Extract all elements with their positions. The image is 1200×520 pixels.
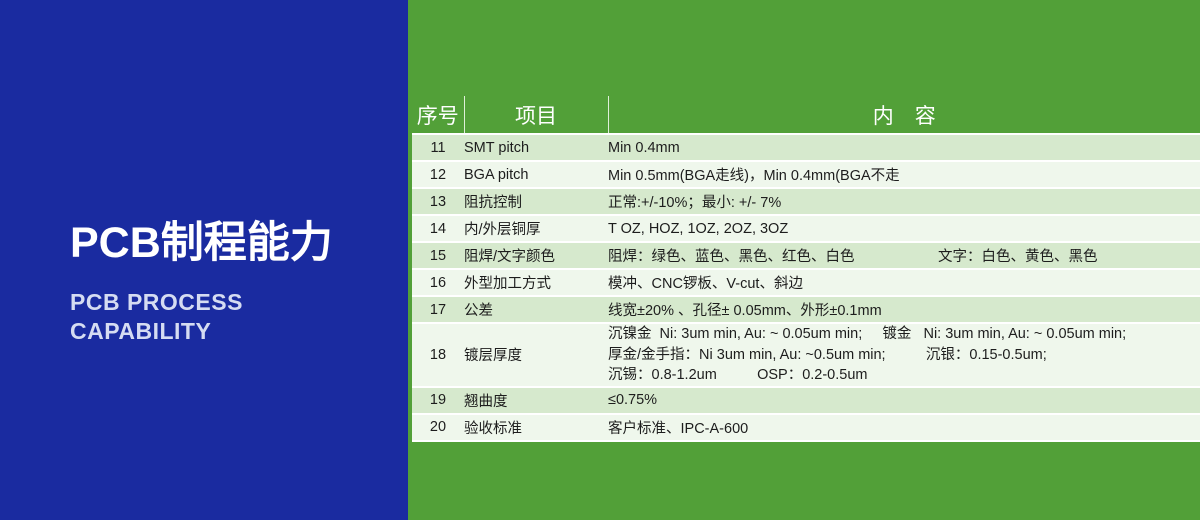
table-row: 14 内/外层铜厚 T OZ, HOZ, 1OZ, 2OZ, 3OZ bbox=[412, 215, 1200, 242]
row-item: 阻焊/文字颜色 bbox=[464, 242, 608, 269]
row-content: Min 0.5mm(BGA走线)，Min 0.4mm(BGA不走 bbox=[608, 161, 1200, 188]
row-content: T OZ, HOZ, 1OZ, 2OZ, 3OZ bbox=[608, 215, 1200, 242]
row-item: BGA pitch bbox=[464, 161, 608, 188]
left-title-panel: PCB制程能力 PCB PROCESS CAPABILITY bbox=[0, 0, 408, 520]
row-content-line-1: 沉镍金 Ni: 3um min, Au: ~ 0.05um min; 镀金 Ni… bbox=[608, 324, 1200, 345]
row-content: 沉镍金 Ni: 3um min, Au: ~ 0.05um min; 镀金 Ni… bbox=[608, 323, 1200, 387]
row-content: 模冲、CNC锣板、V-cut、斜边 bbox=[608, 269, 1200, 296]
row-content: 阻焊：绿色、蓝色、黑色、红色、白色 文字：白色、黄色、黑色 bbox=[608, 242, 1200, 269]
column-header-item: 项目 bbox=[464, 96, 608, 134]
row-item: 翘曲度 bbox=[464, 387, 608, 414]
spec-table-container: 序号 项目 内 容 11 SMT pitch Min 0.4mm 12 BGA … bbox=[412, 96, 1200, 442]
table-row: 18 镀层厚度 沉镍金 Ni: 3um min, Au: ~ 0.05um mi… bbox=[412, 323, 1200, 387]
row-number: 13 bbox=[412, 188, 464, 215]
row-content-line-3: 沉锡：0.8-1.2um OSP：0.2-0.5um bbox=[608, 365, 1200, 386]
column-header-no: 序号 bbox=[412, 96, 464, 134]
row-content: 客户标准、IPC-A-600 bbox=[608, 414, 1200, 441]
table-row: 16 外型加工方式 模冲、CNC锣板、V-cut、斜边 bbox=[412, 269, 1200, 296]
page-subtitle-english: PCB PROCESS CAPABILITY bbox=[70, 288, 243, 347]
row-number: 16 bbox=[412, 269, 464, 296]
table-body: 11 SMT pitch Min 0.4mm 12 BGA pitch Min … bbox=[412, 134, 1200, 441]
row-number: 11 bbox=[412, 134, 464, 161]
green-background-bottom bbox=[408, 443, 1200, 520]
table-header: 序号 项目 内 容 bbox=[412, 96, 1200, 134]
row-number: 12 bbox=[412, 161, 464, 188]
green-background-top bbox=[408, 0, 1200, 96]
row-item: 验收标准 bbox=[464, 414, 608, 441]
page-title-chinese: PCB制程能力 bbox=[70, 222, 333, 265]
row-number: 14 bbox=[412, 215, 464, 242]
row-content-line-2: 厚金/金手指：Ni 3um min, Au: ~0.5um min; 沉银：0.… bbox=[608, 345, 1200, 366]
row-content-solder-mask: 阻焊：绿色、蓝色、黑色、红色、白色 bbox=[608, 245, 938, 266]
row-number: 20 bbox=[412, 414, 464, 441]
row-item: 镀层厚度 bbox=[464, 323, 608, 387]
row-item: 内/外层铜厚 bbox=[464, 215, 608, 242]
row-content: 正常:+/-10%；最小: +/- 7% bbox=[608, 188, 1200, 215]
row-number: 18 bbox=[412, 323, 464, 387]
row-number: 15 bbox=[412, 242, 464, 269]
column-header-content: 内 容 bbox=[608, 96, 1200, 134]
row-item: 外型加工方式 bbox=[464, 269, 608, 296]
table-row: 12 BGA pitch Min 0.5mm(BGA走线)，Min 0.4mm(… bbox=[412, 161, 1200, 188]
table-header-row: 序号 项目 内 容 bbox=[412, 96, 1200, 134]
page-subtitle-line-1: PCB PROCESS bbox=[70, 288, 243, 317]
row-content: ≤0.75% bbox=[608, 387, 1200, 414]
table-row: 20 验收标准 客户标准、IPC-A-600 bbox=[412, 414, 1200, 441]
row-content: 线宽±20% 、孔径± 0.05mm、外形±0.1mm bbox=[608, 296, 1200, 323]
row-number: 19 bbox=[412, 387, 464, 414]
page-subtitle-line-2: CAPABILITY bbox=[70, 317, 243, 346]
row-number: 17 bbox=[412, 296, 464, 323]
table-row: 13 阻抗控制 正常:+/-10%；最小: +/- 7% bbox=[412, 188, 1200, 215]
row-content: Min 0.4mm bbox=[608, 134, 1200, 161]
row-content-silkscreen: 文字：白色、黄色、黑色 bbox=[938, 245, 1098, 266]
row-item: SMT pitch bbox=[464, 134, 608, 161]
row-item: 阻抗控制 bbox=[464, 188, 608, 215]
pcb-process-capability-table: 序号 项目 内 容 11 SMT pitch Min 0.4mm 12 BGA … bbox=[412, 96, 1200, 442]
table-row: 11 SMT pitch Min 0.4mm bbox=[412, 134, 1200, 161]
table-row: 15 阻焊/文字颜色 阻焊：绿色、蓝色、黑色、红色、白色 文字：白色、黄色、黑色 bbox=[412, 242, 1200, 269]
table-row: 19 翘曲度 ≤0.75% bbox=[412, 387, 1200, 414]
table-row: 17 公差 线宽±20% 、孔径± 0.05mm、外形±0.1mm bbox=[412, 296, 1200, 323]
row-item: 公差 bbox=[464, 296, 608, 323]
